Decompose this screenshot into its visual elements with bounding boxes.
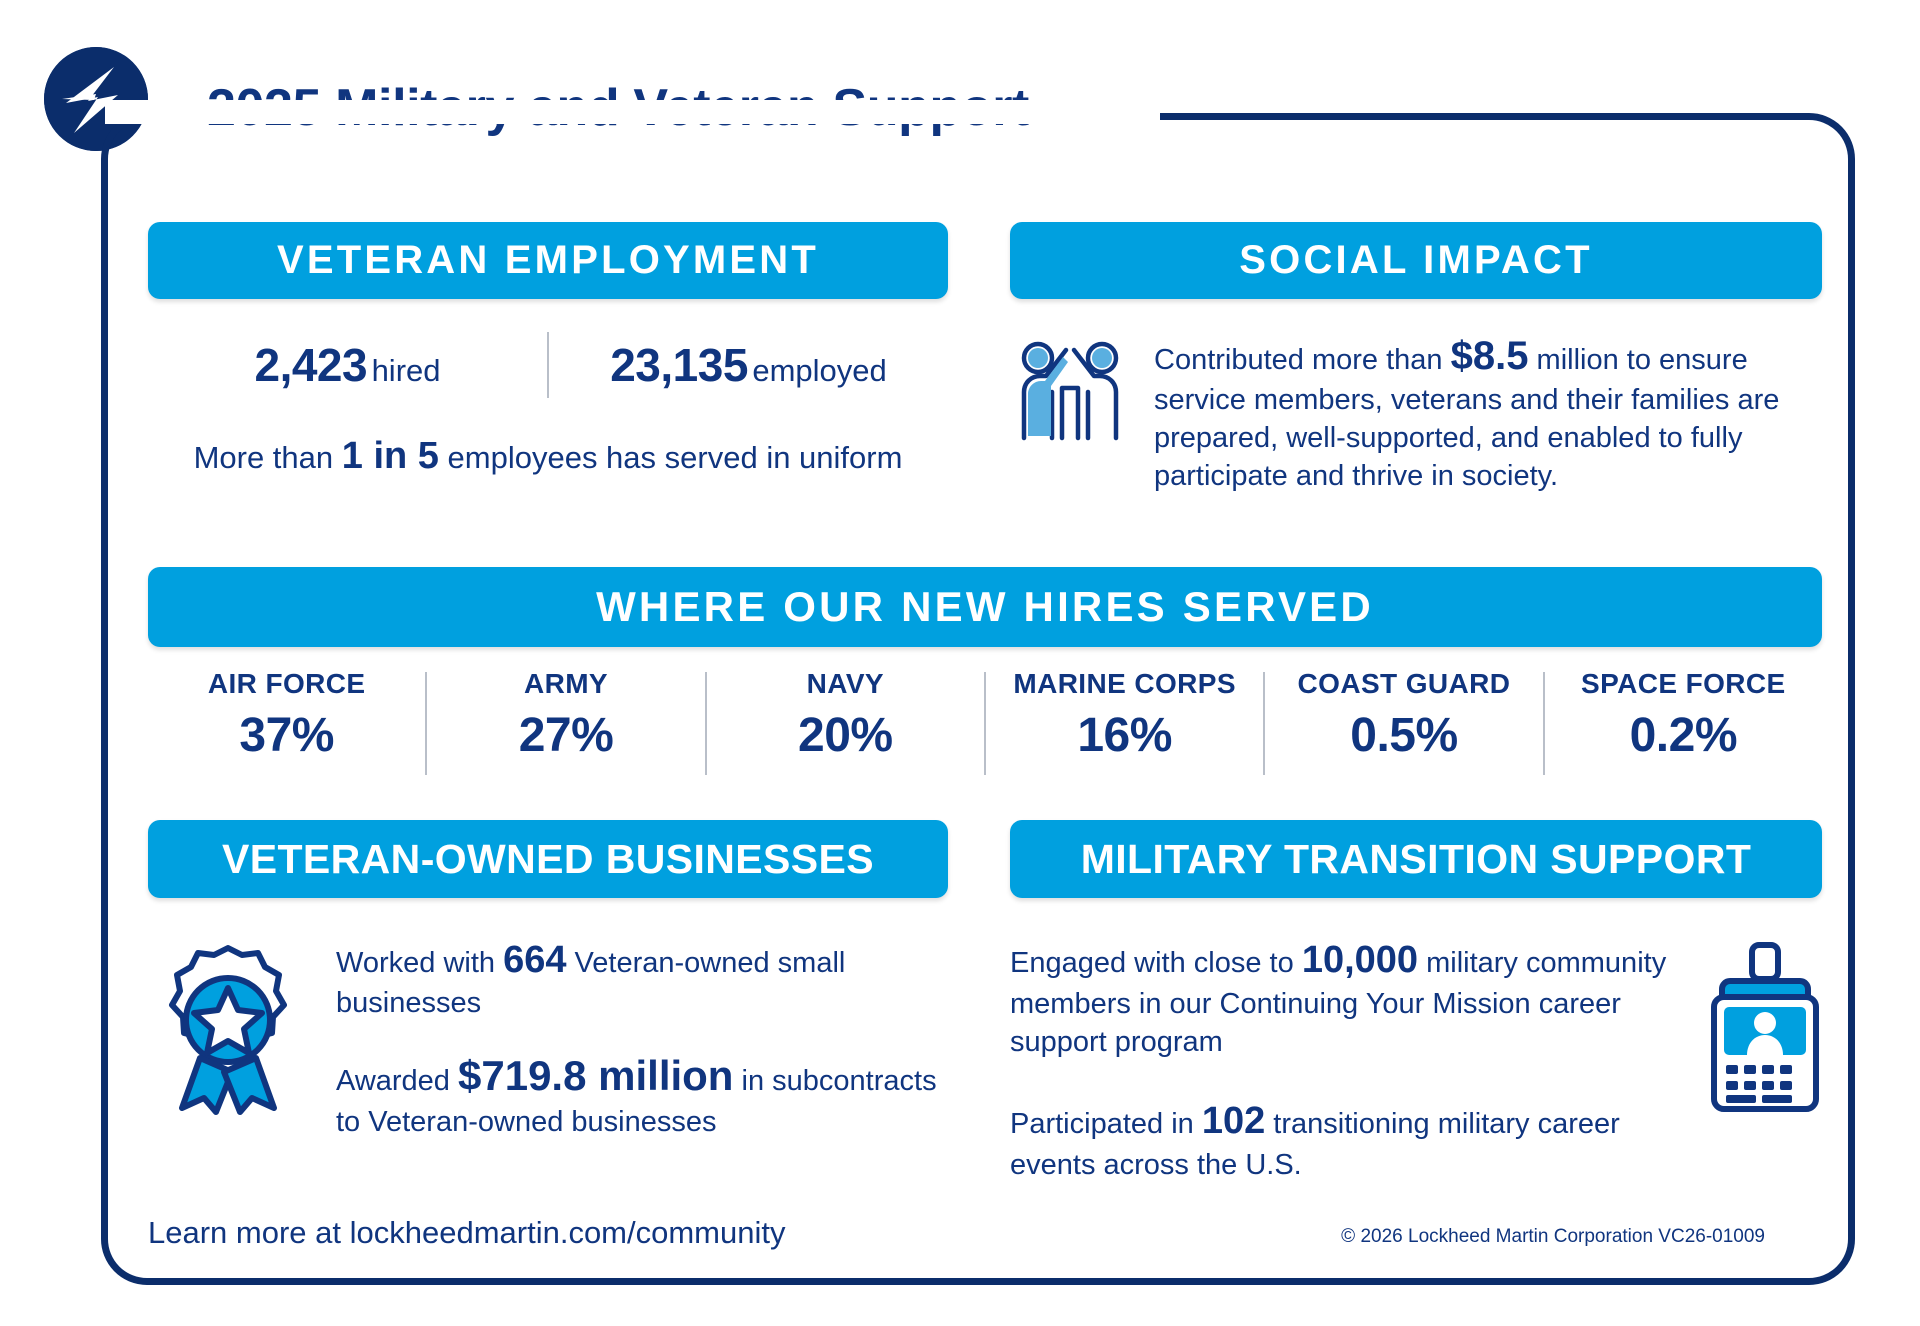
social-impact-text: Contributed more than $8.5 million to en… bbox=[1154, 330, 1822, 496]
mts-p1-value: 10,000 bbox=[1302, 939, 1418, 981]
vob-line-1: Worked with 664 Veteran-owned small busi… bbox=[336, 936, 968, 1023]
uniform-statement: More than 1 in 5 employees has served in… bbox=[148, 435, 948, 478]
branch-percent: 16% bbox=[1077, 708, 1172, 763]
section-header-veteran-owned-businesses: VETERAN-OWNED BUSINESSES bbox=[148, 820, 948, 898]
title-connector-rule bbox=[1160, 113, 1720, 120]
lockheed-martin-star-logo-icon bbox=[44, 47, 148, 151]
social-text-before: Contributed more than bbox=[1154, 344, 1451, 376]
vob-line1-value: 664 bbox=[503, 939, 566, 981]
award-ribbon-star-badge-icon bbox=[148, 930, 308, 1120]
section-header-social-impact: SOCIAL IMPACT bbox=[1010, 222, 1822, 299]
branch-percent: 0.5% bbox=[1350, 708, 1457, 763]
social-impact-body: Contributed more than $8.5 million to en… bbox=[1010, 330, 1822, 496]
branch-coast-guard: COAST GUARD 0.5% bbox=[1265, 668, 1542, 783]
branch-name: SPACE FORCE bbox=[1581, 668, 1786, 700]
two-people-high-five-icon bbox=[1010, 330, 1130, 447]
branch-air-force: AIR FORCE 37% bbox=[148, 668, 425, 783]
mts-paragraph-1: Engaged with close to 10,000 military co… bbox=[1010, 935, 1670, 1062]
section-header-veteran-employment: VETERAN EMPLOYMENT bbox=[148, 222, 948, 299]
infographic-page: 2025 Military and Veteran Support VETERA… bbox=[0, 0, 1920, 1326]
vob-line1-before: Worked with bbox=[336, 947, 503, 979]
branch-percent: 0.2% bbox=[1630, 708, 1737, 763]
vob-line-2: Awarded $719.8 million in subcontracts t… bbox=[336, 1049, 968, 1141]
stat-hired-value: 2,423 bbox=[254, 339, 367, 391]
stat-hired: 2,423 hired bbox=[148, 338, 547, 392]
branch-name: MARINE CORPS bbox=[1013, 668, 1236, 700]
mts-p2-value: 102 bbox=[1202, 1100, 1265, 1142]
social-amount: $8.5 bbox=[1451, 334, 1529, 378]
veteran-employment-stats: 2,423 hired 23,135 employed bbox=[148, 330, 948, 400]
mts-paragraph-2: Participated in 102 transitioning milita… bbox=[1010, 1096, 1670, 1184]
uniform-prefix: More than bbox=[194, 440, 342, 475]
branch-space-force: SPACE FORCE 0.2% bbox=[1545, 668, 1822, 783]
learn-more-link[interactable]: Learn more at lockheedmartin.com/communi… bbox=[148, 1215, 785, 1251]
branch-name: AIR FORCE bbox=[208, 668, 366, 700]
frame-notch bbox=[105, 100, 1185, 124]
transition-support-text: Engaged with close to 10,000 military co… bbox=[1010, 935, 1670, 1184]
stat-employed-label: employed bbox=[752, 353, 886, 388]
section-header-military-transition-support: MILITARY TRANSITION SUPPORT bbox=[1010, 820, 1822, 898]
branch-marine-corps: MARINE CORPS 16% bbox=[986, 668, 1263, 783]
vob-line2-before: Awarded bbox=[336, 1065, 458, 1097]
branch-percentages-row: AIR FORCE 37% ARMY 27% NAVY 20% MARINE C… bbox=[148, 668, 1822, 783]
branch-percent: 37% bbox=[239, 708, 334, 763]
uniform-suffix: employees has served in uniform bbox=[439, 440, 903, 475]
stat-employed-value: 23,135 bbox=[610, 339, 748, 391]
veteran-owned-text: Worked with 664 Veteran-owned small busi… bbox=[336, 930, 968, 1141]
branch-name: ARMY bbox=[524, 668, 608, 700]
branch-name: NAVY bbox=[807, 668, 884, 700]
branch-army: ARMY 27% bbox=[427, 668, 704, 783]
veteran-owned-body: Worked with 664 Veteran-owned small busi… bbox=[148, 930, 968, 1141]
copyright-notice: © 2026 Lockheed Martin Corporation VC26-… bbox=[1341, 1226, 1765, 1248]
branch-percent: 20% bbox=[798, 708, 893, 763]
uniform-emphasis: 1 in 5 bbox=[342, 435, 439, 477]
stat-hired-label: hired bbox=[372, 353, 441, 388]
branch-percent: 27% bbox=[519, 708, 614, 763]
transition-support-body: Engaged with close to 10,000 military co… bbox=[1010, 935, 1840, 1184]
mts-p2-before: Participated in bbox=[1010, 1108, 1202, 1140]
stat-employed: 23,135 employed bbox=[549, 338, 948, 392]
branch-name: COAST GUARD bbox=[1298, 668, 1511, 700]
section-header-where-served: WHERE OUR NEW HIRES SERVED bbox=[148, 567, 1822, 647]
branch-navy: NAVY 20% bbox=[707, 668, 984, 783]
id-badge-person-icon bbox=[1690, 935, 1840, 1121]
mts-p1-before: Engaged with close to bbox=[1010, 947, 1302, 979]
vob-line2-value: $719.8 million bbox=[458, 1052, 733, 1099]
